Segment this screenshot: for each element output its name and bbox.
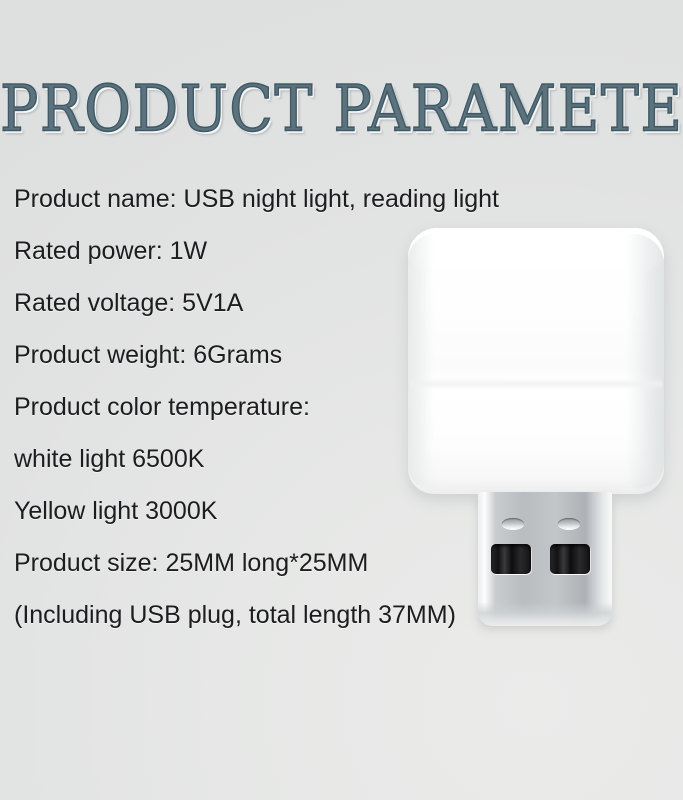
product-parameter-page: PRODUCT PARAMETER Product name: USB nigh…: [0, 0, 683, 800]
usb-connector-dimple-left: [502, 518, 524, 529]
lamp-horizontal-seam: [410, 378, 662, 390]
usb-contact-cutout-right: [550, 544, 590, 574]
product-photo-usb-night-light: [398, 226, 678, 636]
page-title-container: PRODUCT PARAMETER: [0, 78, 683, 135]
lamp-left-edge-shading: [408, 234, 434, 488]
lamp-right-edge-shading: [626, 234, 664, 488]
usb-contact-cutout-left: [491, 544, 531, 574]
usb-connector-dimple-right: [558, 518, 580, 529]
spec-line-product-name: Product name: USB night light, reading l…: [14, 173, 554, 225]
usb-connector-tip: [478, 602, 612, 626]
page-title: PRODUCT PARAMETER: [0, 78, 683, 142]
